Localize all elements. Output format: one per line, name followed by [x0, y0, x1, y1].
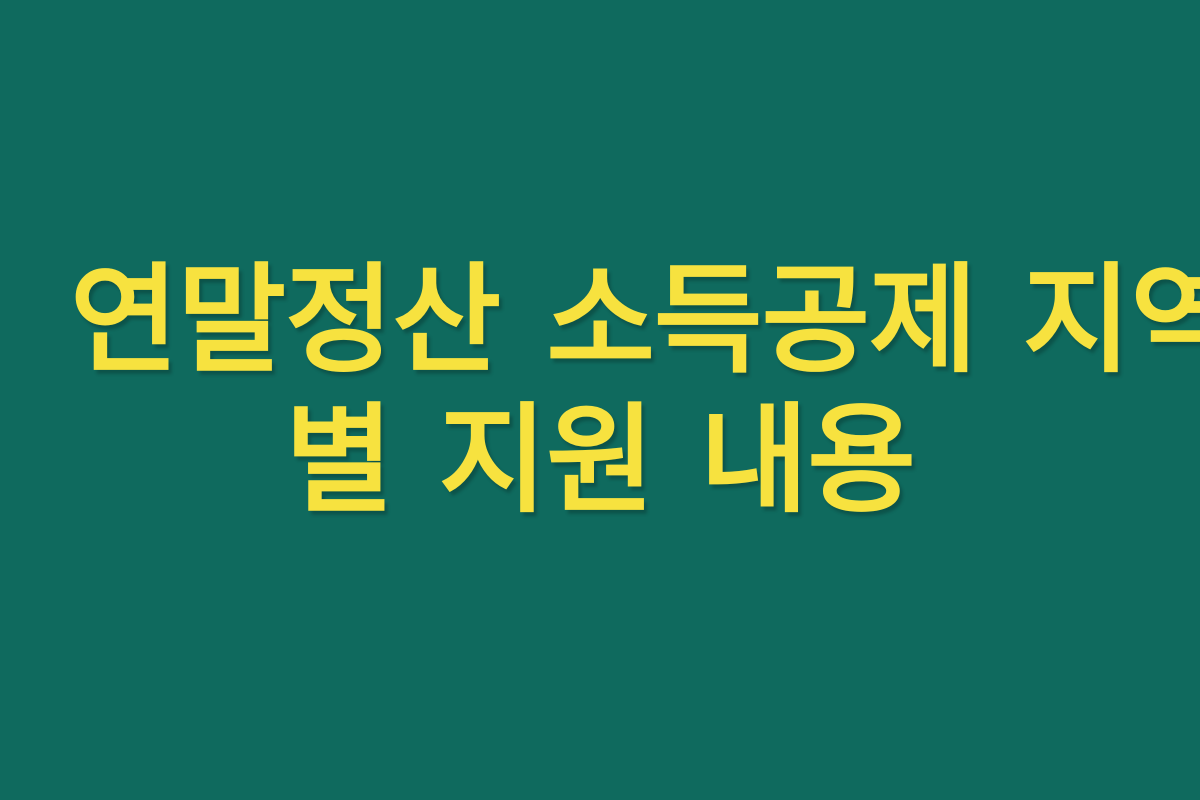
page-title-line-2: 별 지원 내용	[70, 390, 1130, 530]
page-title: 연말정산 소득공제 지역 별 지원 내용	[70, 250, 1130, 530]
title-banner: 연말정산 소득공제 지역 별 지원 내용	[0, 0, 1200, 800]
page-title-line-1: 연말정산 소득공제 지역	[70, 250, 1130, 390]
